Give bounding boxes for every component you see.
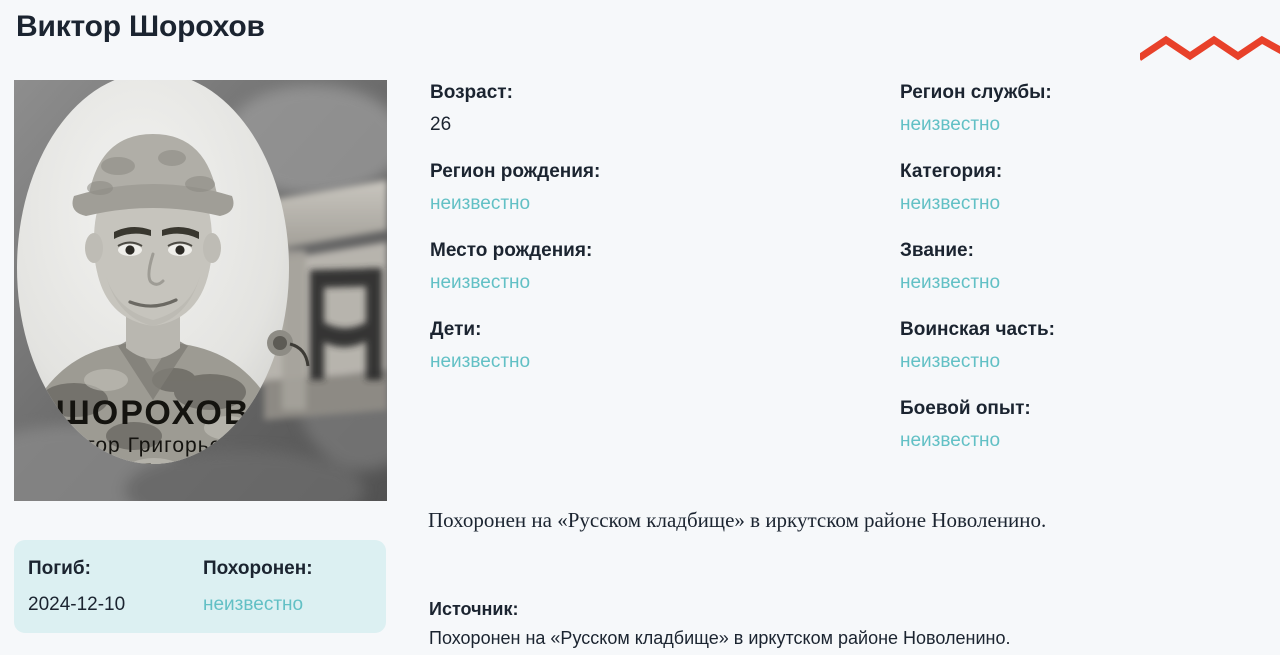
source-text: Похоронен на «Русском кладбище» в иркутс… — [429, 627, 1259, 649]
field-service-region: Регион службы: неизвестно — [900, 80, 1250, 136]
source-block: Источник: Похоронен на «Русском кладбище… — [429, 598, 1259, 649]
details-column-service: Регион службы: неизвестно Категория: неи… — [900, 80, 1250, 452]
field-rank: Звание: неизвестно — [900, 238, 1250, 294]
buried-label: Похоронен: — [203, 556, 313, 581]
field-combat-experience: Боевой опыт: неизвестно — [900, 396, 1250, 452]
source-heading: Источник: — [429, 598, 1259, 620]
died-label: Погиб: — [28, 556, 125, 581]
field-value: неизвестно — [900, 350, 1250, 373]
field-value: неизвестно — [430, 192, 860, 215]
field-category: Категория: неизвестно — [900, 159, 1250, 215]
field-label: Возраст: — [430, 80, 860, 105]
died-value: 2024-12-10 — [28, 593, 125, 617]
field-birth-region: Регион рождения: неизвестно — [430, 159, 860, 215]
field-label: Место рождения: — [430, 238, 860, 263]
summary-buried-block: Похоронен: неизвестно — [203, 556, 313, 617]
field-label: Регион рождения: — [430, 159, 860, 184]
field-label: Боевой опыт: — [900, 396, 1250, 421]
field-value: неизвестно — [900, 429, 1250, 452]
field-children: Дети: неизвестно — [430, 317, 860, 373]
field-value: неизвестно — [430, 350, 860, 373]
field-age: Возраст: 26 — [430, 80, 860, 136]
plaque-surname: ШОРОХОВ — [56, 394, 251, 432]
buried-value: неизвестно — [203, 593, 313, 617]
burial-description: Похоронен на «Русском кладбище» в иркутс… — [428, 506, 1258, 534]
field-label: Регион службы: — [900, 80, 1250, 105]
field-label: Категория: — [900, 159, 1250, 184]
portrait-photo: ШОРОХОВ Виктор Григорьевич 08.07.1998 10… — [14, 80, 387, 501]
field-value: неизвестно — [900, 192, 1250, 215]
summary-died-block: Погиб: 2024-12-10 — [28, 556, 125, 617]
page-title: Виктор Шорохов — [16, 6, 265, 48]
field-birth-place: Место рождения: неизвестно — [430, 238, 860, 294]
field-value: неизвестно — [430, 271, 860, 294]
field-military-unit: Воинская часть: неизвестно — [900, 317, 1250, 373]
field-label: Воинская часть: — [900, 317, 1250, 342]
zigzag-decoration-icon — [1140, 30, 1280, 70]
field-value: неизвестно — [900, 113, 1250, 136]
field-label: Дети: — [430, 317, 860, 342]
details-column-personal: Возраст: 26 Регион рождения: неизвестно … — [430, 80, 860, 373]
field-value: 26 — [430, 113, 860, 136]
summary-card: Погиб: 2024-12-10 Похоронен: неизвестно — [14, 540, 386, 633]
field-value: неизвестно — [900, 271, 1250, 294]
field-label: Звание: — [900, 238, 1250, 263]
